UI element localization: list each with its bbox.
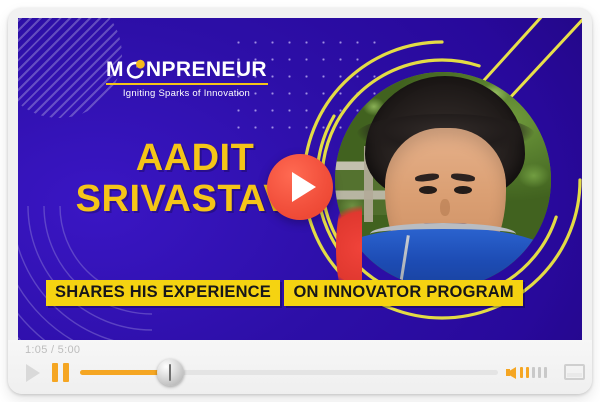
play-icon[interactable] [26, 364, 40, 382]
headline-line-1: AADIT [136, 137, 255, 179]
speaker-body-icon [506, 369, 510, 376]
brand-tagline: Igniting Sparks of Innovation [104, 88, 269, 99]
video-stage[interactable]: M NPRENEUR Igniting Sparks of Innovation… [18, 18, 582, 340]
brand-name-prefix: M [106, 59, 124, 81]
brand-name-suffix: NPRENEUR [146, 59, 267, 81]
play-overlay-button[interactable] [267, 154, 333, 220]
pause-icon[interactable] [52, 363, 71, 382]
video-player[interactable]: M NPRENEUR Igniting Sparks of Innovation… [8, 8, 592, 394]
player-controls: 1:05 / 5:00 [8, 340, 592, 394]
arc-fan-decoration [18, 206, 152, 340]
logo-underline [106, 83, 268, 85]
fullscreen-icon[interactable] [564, 364, 585, 380]
banner-stack: SHARES HIS EXPERIENCE ON INNOVATOR PROGR… [46, 275, 523, 306]
seek-slider[interactable] [80, 370, 498, 375]
brand-logo: M NPRENEUR Igniting Sparks of Innovation [104, 58, 269, 99]
time-display: 1:05 / 5:00 [25, 344, 80, 356]
volume-control[interactable] [506, 363, 554, 382]
portrait-photo [335, 72, 551, 288]
moon-arrow-icon [124, 59, 146, 81]
banner-line-2: ON INNOVATOR PROGRAM [284, 280, 522, 306]
banner-line-1: SHARES HIS EXPERIENCE [46, 280, 280, 306]
seek-thumb[interactable] [157, 359, 184, 386]
